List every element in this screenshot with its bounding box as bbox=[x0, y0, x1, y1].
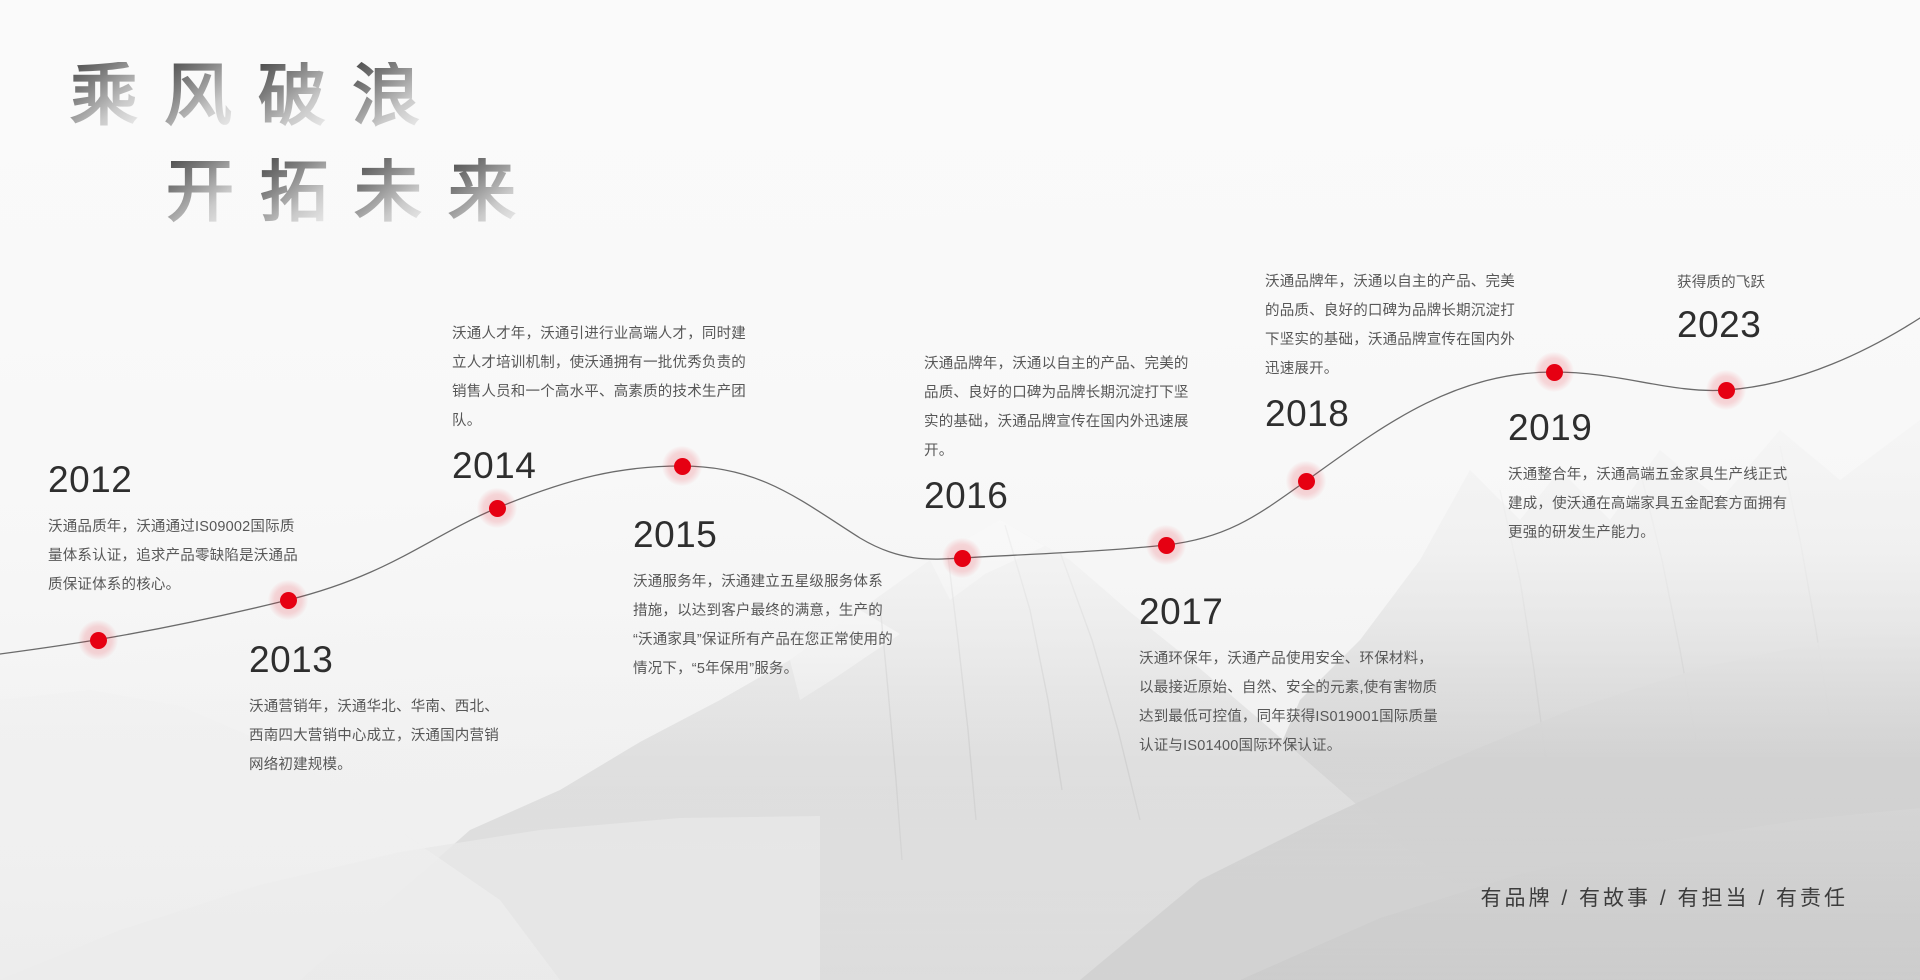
entry-year-2014: 2014 bbox=[452, 446, 752, 487]
timeline-entry-2015: 2015沃通服务年，沃通建立五星级服务体系措施，以达到客户最终的满意，生产的“沃… bbox=[633, 515, 895, 684]
node-dot-2016 bbox=[954, 550, 971, 567]
timeline-entry-2013: 2013沃通营销年，沃通华北、华南、西北、西南四大营销中心成立，沃通国内营销网络… bbox=[249, 640, 501, 780]
entry-year-2013: 2013 bbox=[249, 640, 501, 681]
timeline-entry-2018: 沃通品牌年，沃通以自主的产品、完美的品质、良好的口碑为品牌长期沉淀打下坚实的基础… bbox=[1265, 268, 1523, 435]
entry-year-2012: 2012 bbox=[48, 460, 308, 501]
entry-year-2017: 2017 bbox=[1139, 592, 1439, 633]
entry-year-2015: 2015 bbox=[633, 515, 895, 556]
node-dot-2019 bbox=[1546, 364, 1563, 381]
entry-description-2015: 沃通服务年，沃通建立五星级服务体系措施，以达到客户最终的满意，生产的“沃通家具”… bbox=[633, 568, 895, 684]
entry-description-2014: 沃通人才年，沃通引进行业高端人才，同时建立人才培训机制，使沃通拥有一批优秀负责的… bbox=[452, 320, 752, 436]
node-dot-2014 bbox=[489, 500, 506, 517]
node-dot-2012 bbox=[90, 632, 107, 649]
timeline-entry-2012: 2012沃通品质年，沃通通过IS09002国际质量体系认证，追求产品零缺陷是沃通… bbox=[48, 460, 308, 600]
entry-description-2019: 沃通整合年，沃通高端五金家具生产线正式建成，使沃通在高端家具五金配套方面拥有更强… bbox=[1508, 461, 1796, 548]
node-dot-2018 bbox=[1298, 473, 1315, 490]
entry-year-2018: 2018 bbox=[1265, 394, 1523, 435]
entry-year-2016: 2016 bbox=[924, 476, 1194, 517]
entry-description-2013: 沃通营销年，沃通华北、华南、西北、西南四大营销中心成立，沃通国内营销网络初建规模… bbox=[249, 693, 501, 780]
node-dot-2017 bbox=[1158, 537, 1175, 554]
node-dot-2023 bbox=[1718, 382, 1735, 399]
entry-description-2016: 沃通品牌年，沃通以自主的产品、完美的品质、良好的口碑为品牌长期沉淀打下坚实的基础… bbox=[924, 350, 1194, 466]
timeline-entry-2014: 沃通人才年，沃通引进行业高端人才，同时建立人才培训机制，使沃通拥有一批优秀负责的… bbox=[452, 320, 752, 487]
entry-description-2018: 沃通品牌年，沃通以自主的产品、完美的品质、良好的口碑为品牌长期沉淀打下坚实的基础… bbox=[1265, 268, 1523, 384]
timeline-entry-2019: 2019沃通整合年，沃通高端五金家具生产线正式建成，使沃通在高端家具五金配套方面… bbox=[1508, 408, 1796, 548]
infographic-canvas: 乘风破浪 开拓未来 2012沃通品质年，沃通通过IS09002国际质量体系认证，… bbox=[0, 0, 1920, 980]
entry-description-2023: 获得质的飞跃 bbox=[1677, 272, 1897, 295]
entry-year-2019: 2019 bbox=[1508, 408, 1796, 449]
timeline-entry-2016: 沃通品牌年，沃通以自主的产品、完美的品质、良好的口碑为品牌长期沉淀打下坚实的基础… bbox=[924, 350, 1194, 517]
footer-tagline: 有品牌 / 有故事 / 有担当 / 有责任 bbox=[1480, 882, 1848, 912]
entry-year-2023: 2023 bbox=[1677, 305, 1897, 346]
entry-description-2012: 沃通品质年，沃通通过IS09002国际质量体系认证，追求产品零缺陷是沃通品质保证… bbox=[48, 513, 308, 600]
entry-description-2017: 沃通环保年，沃通产品使用安全、环保材料，以最接近原始、自然、安全的元素,使有害物… bbox=[1139, 645, 1439, 761]
timeline-entry-2023: 获得质的飞跃2023 bbox=[1677, 272, 1897, 346]
timeline-entry-2017: 2017沃通环保年，沃通产品使用安全、环保材料，以最接近原始、自然、安全的元素,… bbox=[1139, 592, 1439, 761]
